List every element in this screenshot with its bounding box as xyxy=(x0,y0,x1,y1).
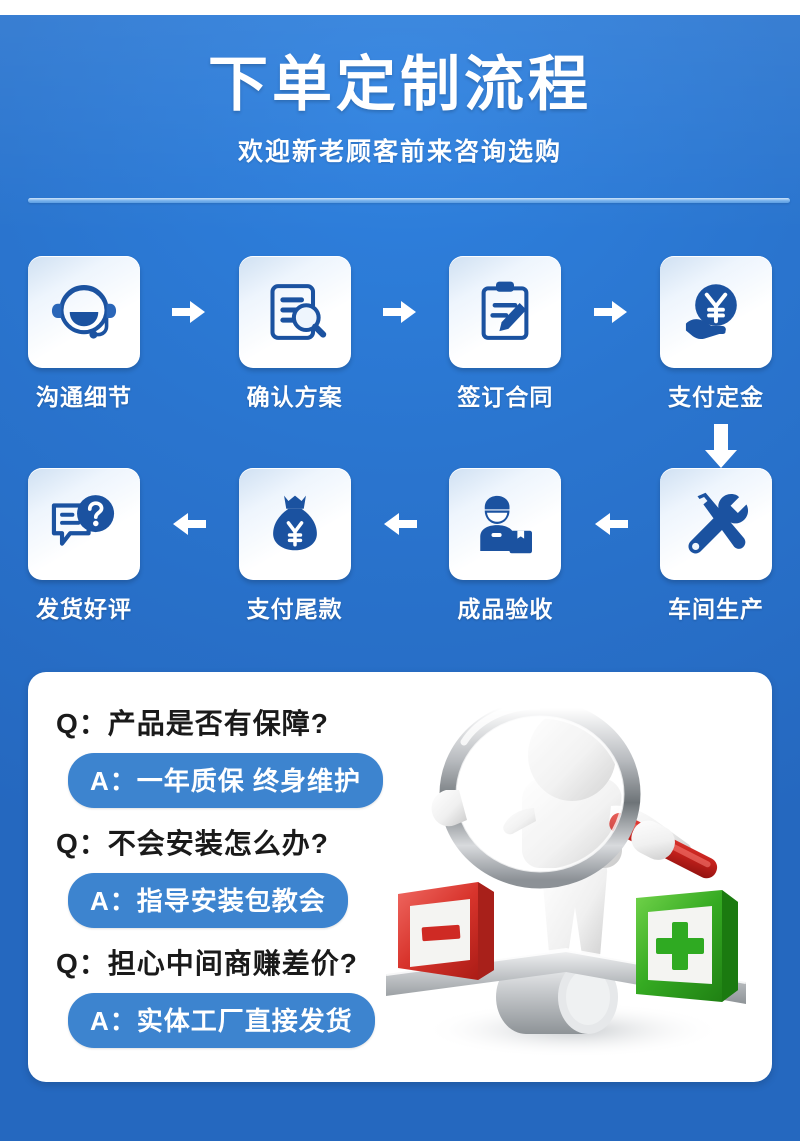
arrow-left-icon-2 xyxy=(376,468,424,580)
clipboard-pen-icon xyxy=(469,276,541,348)
step-label: 车间生产 xyxy=(660,590,772,624)
promo-page: 下单定制流程 欢迎新老顾客前来咨询选购 沟通细节 xyxy=(0,0,800,1141)
step-tile xyxy=(449,256,561,368)
step-label: 支付定金 xyxy=(660,378,772,412)
arrow-left-icon-3 xyxy=(587,468,635,580)
hand-yen-coin-icon xyxy=(679,275,753,349)
3d-figure-magnifier-balance-illustration xyxy=(368,682,768,1082)
worker-parcel-icon xyxy=(469,488,541,560)
faq-question-text: 不会安装怎么办? xyxy=(108,828,329,859)
wrench-screwdriver-icon xyxy=(679,487,753,561)
step-tile xyxy=(660,256,772,368)
step-tile xyxy=(239,468,351,580)
step-tile xyxy=(449,468,561,580)
process-step-inspection[interactable]: 成品验收 xyxy=(449,468,561,624)
process-step-sign-contract[interactable]: 签订合同 xyxy=(449,256,561,412)
header-divider xyxy=(28,198,790,203)
faq-question-text: 产品是否有保障? xyxy=(108,708,329,739)
arrow-right-icon-3 xyxy=(587,256,635,368)
arrow-down-icon xyxy=(701,424,741,468)
step-label: 签订合同 xyxy=(449,378,561,412)
faq-answer-pill[interactable]: A：实体工厂直接发货 xyxy=(68,993,375,1048)
faq-question-text: 担心中间商赚差价? xyxy=(108,948,358,979)
process-row-1: 沟通细节 确认方案 xyxy=(28,256,772,412)
step-label: 确认方案 xyxy=(239,378,351,412)
step-tile xyxy=(28,256,140,368)
step-label: 沟通细节 xyxy=(28,378,140,412)
process-step-confirm-plan[interactable]: 确认方案 xyxy=(239,256,351,412)
page-title: 下单定制流程 xyxy=(0,53,800,116)
process-row-2: 发货好评 支付尾款 xyxy=(28,468,772,624)
step-tile xyxy=(660,468,772,580)
process-step-pay-balance[interactable]: 支付尾款 xyxy=(239,468,351,624)
chat-question-icon xyxy=(47,487,121,561)
step-label: 成品验收 xyxy=(449,590,561,624)
step-tile xyxy=(28,468,140,580)
document-magnifier-icon xyxy=(259,276,331,348)
faq-answer-text: 实体工厂直接发货 xyxy=(137,1006,353,1036)
step-label: 支付尾款 xyxy=(239,590,351,624)
process-step-pay-deposit[interactable]: 支付定金 xyxy=(660,256,772,412)
headset-support-icon xyxy=(46,274,122,350)
arrow-left-icon-1 xyxy=(165,468,213,580)
page-subtitle: 欢迎新老顾客前来咨询选购 xyxy=(0,132,800,168)
faq-card: Q：产品是否有保障? A：一年质保 终身维护 Q：不会安装怎么办? A：指导安装… xyxy=(28,672,772,1082)
faq-answer-pill[interactable]: A：一年质保 终身维护 xyxy=(68,753,383,808)
faq-a-prefix: A： xyxy=(90,886,137,916)
faq-q-prefix: Q： xyxy=(56,948,108,979)
process-step-production[interactable]: 车间生产 xyxy=(660,468,772,624)
process-step-communicate[interactable]: 沟通细节 xyxy=(28,256,140,412)
faq-answer-text: 指导安装包教会 xyxy=(137,886,326,916)
faq-answer-text: 一年质保 终身维护 xyxy=(137,766,361,796)
faq-q-prefix: Q： xyxy=(56,828,108,859)
page-header: 下单定制流程 欢迎新老顾客前来咨询选购 xyxy=(0,15,800,168)
faq-answer-pill[interactable]: A：指导安装包教会 xyxy=(68,873,348,928)
arrow-right-icon-1 xyxy=(165,256,213,368)
process-step-ship-review[interactable]: 发货好评 xyxy=(28,468,140,624)
faq-q-prefix: Q： xyxy=(56,708,108,739)
faq-a-prefix: A： xyxy=(90,766,137,796)
step-label: 发货好评 xyxy=(28,590,140,624)
step-tile xyxy=(239,256,351,368)
faq-a-prefix: A： xyxy=(90,1006,137,1036)
money-bag-yen-icon xyxy=(260,489,330,559)
arrow-right-icon-2 xyxy=(376,256,424,368)
